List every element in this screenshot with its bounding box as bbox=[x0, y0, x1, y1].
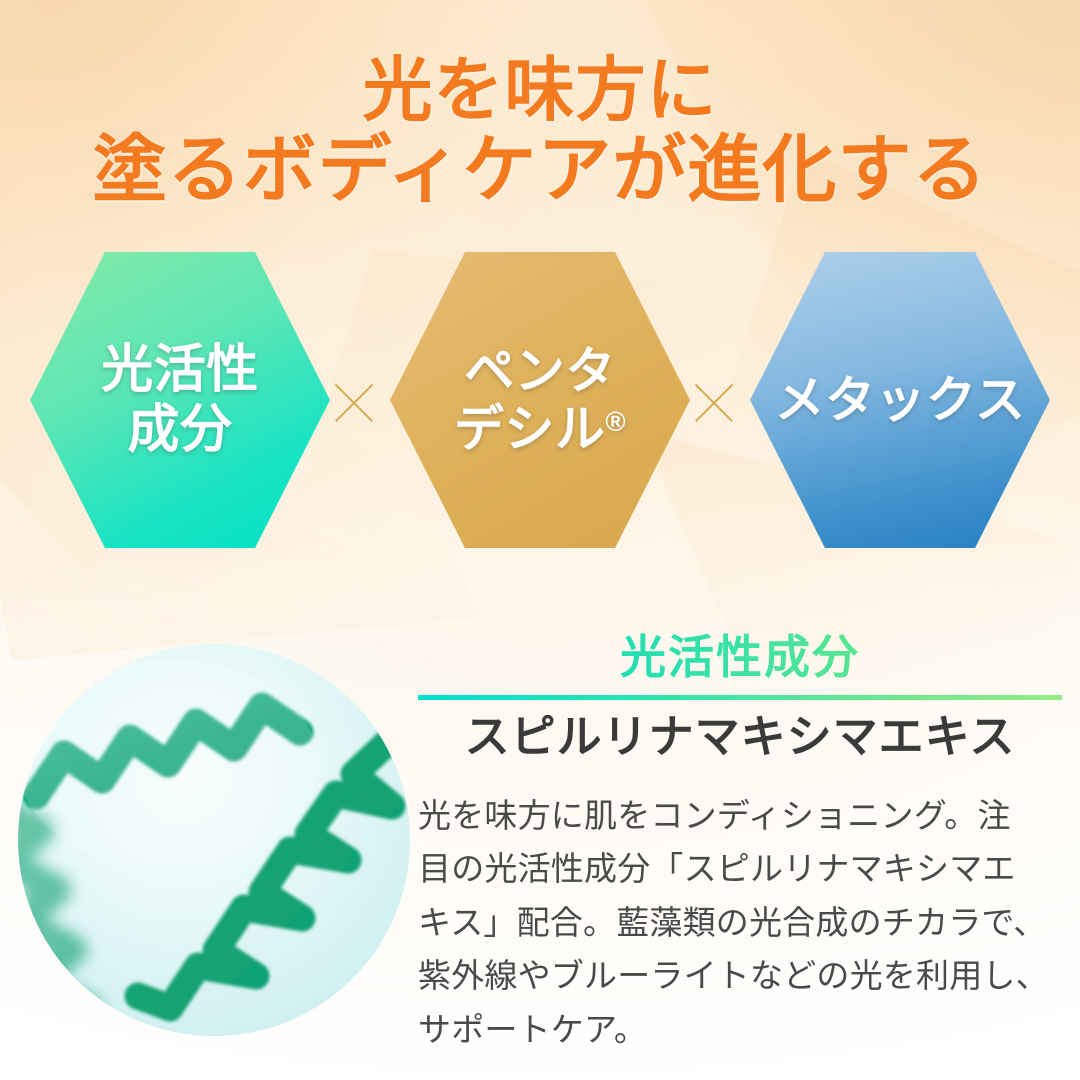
description-line-3: キス」配合。藍藻類の光合成のチカラで、 bbox=[418, 896, 1062, 949]
description-line-5: サポートケア。 bbox=[418, 1003, 1062, 1056]
ingredient-info-column: 光活性成分 スピルリナマキシマエキス 光を味方に肌をコンディショニング。注 目の… bbox=[418, 632, 1062, 1056]
multiply-icon-2 bbox=[688, 376, 740, 428]
description-line-4: 紫外線やブルーライトなどの光を利用し、 bbox=[418, 949, 1062, 1002]
multiply-icon-1 bbox=[328, 376, 380, 428]
description-line-2: 目の光活性成分「スピルリナマキシマエ bbox=[418, 842, 1062, 895]
hexagon-pentadecyl: ペンタ デシル® bbox=[390, 252, 690, 548]
spirulina-helix-illustration bbox=[18, 644, 410, 1036]
hexagon-label-1: 光活性 成分 bbox=[95, 340, 265, 461]
ingredient-description: 光を味方に肌をコンディショニング。注 目の光活性成分「スピルリナマキシマエ キス… bbox=[418, 789, 1062, 1056]
hexagon-3-line-1: メタックス bbox=[775, 371, 1026, 429]
registered-trademark-icon: ® bbox=[605, 406, 626, 437]
ingredient-category-heading: 光活性成分 bbox=[418, 632, 1062, 689]
ingredient-name: スピルリナマキシマエキス bbox=[418, 710, 1062, 763]
headline: 光を味方に 塗るボディケアが進化する bbox=[0, 52, 1080, 210]
hexagon-1-line-2: 成分 bbox=[101, 400, 259, 460]
description-line-1: 光を味方に肌をコンディショニング。注 bbox=[418, 789, 1062, 842]
heading-underline bbox=[418, 695, 1062, 700]
hexagon-label-2: ペンタ デシル® bbox=[448, 342, 632, 458]
hexagon-2-line-1: ペンタ bbox=[454, 342, 626, 400]
headline-line-2: 塗るボディケアが進化する bbox=[0, 129, 1080, 210]
hexagon-hikari-kassei-seibun: 光活性 成分 bbox=[30, 252, 330, 548]
hexagon-metax: メタックス bbox=[750, 252, 1050, 548]
headline-line-1: 光を味方に bbox=[0, 52, 1080, 129]
ingredient-hexagon-row: 光活性 成分 ペンタ デシル® メタックス bbox=[0, 252, 1080, 552]
hexagon-label-3: メタックス bbox=[769, 371, 1032, 429]
spirulina-photo-circle bbox=[18, 644, 410, 1036]
hexagon-2-line-2: デシル® bbox=[454, 400, 626, 458]
ingredient-detail-section: 光活性成分 スピルリナマキシマエキス 光を味方に肌をコンディショニング。注 目の… bbox=[0, 632, 1080, 1080]
infographic-canvas: 光を味方に 塗るボディケアが進化する 光活性 成分 ペンタ デシル® メタックス bbox=[0, 0, 1080, 1080]
hexagon-1-line-1: 光活性 bbox=[101, 340, 259, 400]
hexagon-2-line-2-text: デシル bbox=[454, 401, 606, 457]
